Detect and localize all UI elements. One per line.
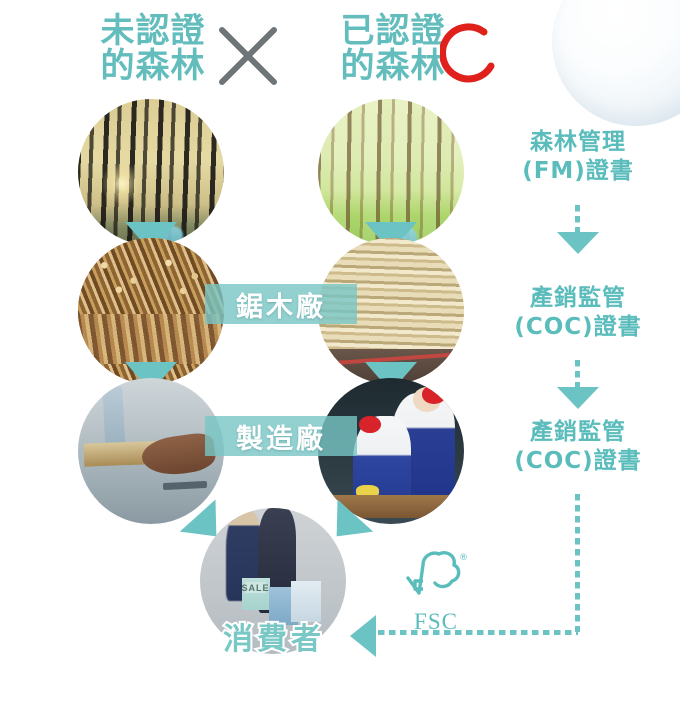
certificate-fm-line2: (FM)證書 — [488, 157, 668, 186]
stage-label-sawmill-text: 鋸木廠 — [236, 285, 326, 324]
cert-arrow-1 — [557, 232, 599, 254]
certificate-forest-management: 森林管理 (FM)證書 — [488, 128, 668, 187]
certificate-coc2-line2: (COC)證書 — [488, 447, 668, 476]
fsc-registered-mark: ® — [459, 553, 468, 563]
fsc-logo-text: FSC — [398, 609, 474, 635]
certificate-coc-2: 產銷監管 (COC)證書 — [488, 418, 668, 477]
cert-arrow-2 — [557, 387, 599, 409]
fsc-logo: ® FSC — [398, 548, 474, 635]
cert-connector-3 — [575, 494, 580, 632]
heading-uncertified-line1: 未認證 — [78, 14, 228, 49]
certificate-coc1-line1: 產銷監管 — [488, 284, 668, 313]
circle-mark-o-icon — [440, 22, 506, 88]
certificate-coc1-line2: (COC)證書 — [488, 313, 668, 342]
certificate-fm-line1: 森林管理 — [488, 128, 668, 157]
cert-connector-2 — [575, 360, 580, 390]
stage-label-consumer-text: 消費者 — [223, 622, 325, 657]
certificate-coc2-line1: 產銷監管 — [488, 418, 668, 447]
photo-uncertified-workshop — [78, 378, 224, 524]
stage-label-manufacturer-text: 製造廠 — [236, 417, 326, 456]
fsc-tree-checkmark-icon: ® — [404, 548, 468, 606]
heading-uncertified-line2: 的森林 — [78, 49, 228, 84]
cross-mark-x-icon — [216, 24, 280, 88]
cert-connector-1 — [575, 205, 580, 235]
stage-label-sawmill: 鋸木廠 — [205, 284, 357, 324]
certificate-coc-1: 產銷監管 (COC)證書 — [488, 284, 668, 343]
stage-label-consumer: 消費者 — [208, 614, 340, 658]
heading-uncertified-forest: 未認證 的森林 — [78, 14, 228, 83]
infographic-canvas: 未認證 的森林 已認證 的森林 鋸木廠 — [0, 0, 680, 711]
flow-arrow-to-consumer — [350, 615, 376, 657]
decorative-bubble — [552, 0, 680, 126]
stage-label-manufacturer: 製造廠 — [205, 416, 357, 456]
